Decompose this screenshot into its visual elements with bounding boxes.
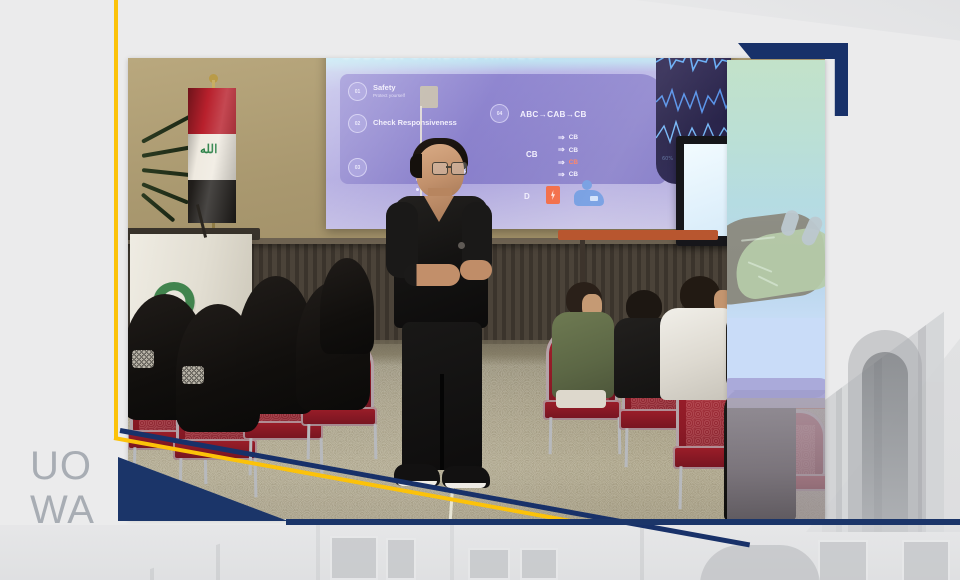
- iraqi-flag: الله: [188, 88, 236, 223]
- wall-junction-box: [420, 86, 438, 108]
- wordmark-line-1: UO: [30, 448, 126, 485]
- presenter-shoe-right: [442, 466, 490, 488]
- uowa-wordmark: UO WA: [30, 448, 126, 548]
- potted-plant: [128, 130, 196, 234]
- audience-member-white-shirt: [660, 276, 736, 402]
- scrub-badge: [458, 242, 465, 249]
- presenter-arm-left: [404, 264, 460, 286]
- presenter-arm-right: [460, 260, 492, 280]
- audience-member-green-shirt: [552, 282, 612, 402]
- watermark-window: [386, 538, 416, 580]
- eyeglasses-icon: [432, 162, 466, 173]
- decorative-beading: [132, 350, 154, 368]
- arch-inner-watermark: [862, 352, 908, 532]
- navy-bottom-bar-decor: [286, 519, 960, 525]
- decorative-beading: [182, 366, 204, 384]
- poster-canvas: الله SUDDEN CARDIAC ARREST 01 Safety Pro…: [0, 0, 960, 580]
- watermark-window: [330, 536, 378, 580]
- wordmark-line-2: WA: [30, 492, 126, 529]
- illustration-sheen: [727, 60, 825, 520]
- watermark-window: [818, 540, 868, 580]
- watermark-window: [902, 540, 950, 580]
- yellow-vertical-rail: [114, 0, 118, 440]
- watermark-window: [520, 548, 558, 580]
- trouser-seam: [440, 374, 444, 470]
- watermark-window: [468, 548, 510, 580]
- cpr-illustration-overlay: [727, 60, 825, 520]
- presenter-hair-side: [410, 154, 422, 178]
- front-table-left: [558, 230, 718, 240]
- audience-member: [320, 258, 374, 354]
- presenter: [376, 138, 504, 498]
